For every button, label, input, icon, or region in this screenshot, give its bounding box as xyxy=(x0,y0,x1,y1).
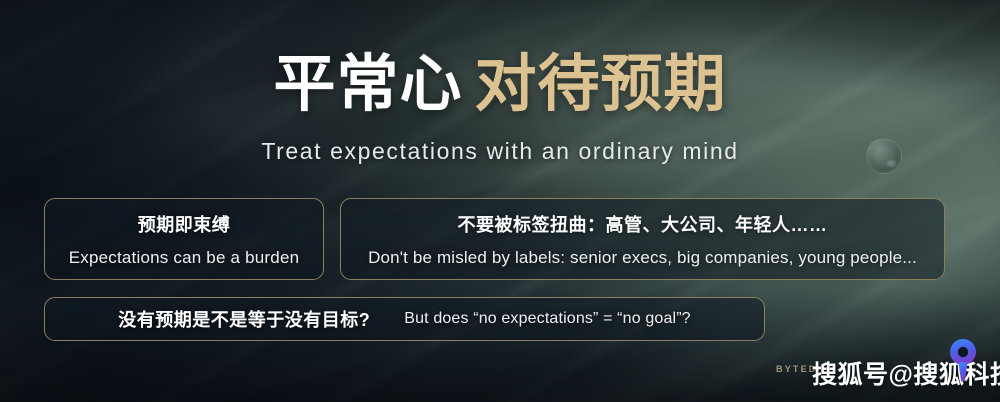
point-card-1: 预期即束缚 Expectations can be a burden xyxy=(44,198,324,280)
point-card-1-title-cn: 预期即束缚 xyxy=(138,211,231,237)
point-card-2-title-cn: 不要被标签扭曲：高管、大公司、年轻人…… xyxy=(458,211,828,237)
headline-block: 平常心对待预期 xyxy=(0,52,1000,118)
page-subtitle: Treat expectations with an ordinary mind xyxy=(0,138,1000,165)
page-title-accent: 对待预期 xyxy=(475,50,727,119)
page-title: 平常心对待预期 xyxy=(0,52,1000,118)
page-title-primary: 平常心 xyxy=(273,50,462,119)
point-card-2-title-en: Don't be misled by labels: senior execs,… xyxy=(368,248,917,268)
point-card-1-title-en: Expectations can be a burden xyxy=(69,248,300,268)
sohu-logo-icon xyxy=(947,338,979,382)
point-card-2: 不要被标签扭曲：高管、大公司、年轻人…… Don't be misled by … xyxy=(340,198,945,280)
slide-canvas: 平常心对待预期 Treat expectations with an ordin… xyxy=(0,0,1000,402)
point-card-3: 没有预期是不是等于没有目标? But does “no expectations… xyxy=(44,297,765,341)
point-card-3-title-cn: 没有预期是不是等于没有目标? xyxy=(118,306,370,332)
point-card-3-title-en: But does “no expectations” = “no goal”? xyxy=(404,310,690,328)
